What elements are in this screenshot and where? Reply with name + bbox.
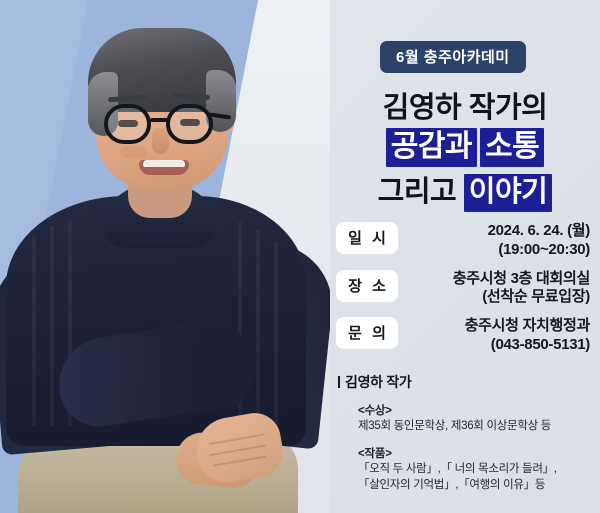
title-highlight-gonggam: 공감과 xyxy=(386,128,477,167)
bio-bar-icon xyxy=(338,376,340,388)
info-value-venue-line1: 충주시청 3층 대회의실 xyxy=(453,270,590,287)
bio-works-title: <작품> xyxy=(358,445,600,461)
author-bio: 김영하 작가 <수상> 제35회 동인문학상, 제36회 이상문학상 등 <작품… xyxy=(330,372,600,494)
title-line-2: 공감과소통 xyxy=(330,121,600,165)
info-value-venue: 충주시청 3층 대회의실 (선착순 무료입장) xyxy=(398,270,600,308)
title-highlight-sotong: 소통 xyxy=(480,128,544,167)
bio-heading: 김영하 작가 xyxy=(338,372,600,392)
glasses-bridge xyxy=(150,118,168,122)
bio-works-line1: 「오직 두 사람」,「 너의 목소리가 들려」, xyxy=(358,461,600,478)
title-line-1-text: 김영하 작가의 xyxy=(383,92,548,124)
bio-awards-text: 제35회 동인문학상, 제36회 이상문학상 등 xyxy=(358,418,600,435)
author-photo xyxy=(0,0,330,513)
program-badge: 6월 충주아카데미 xyxy=(380,41,526,73)
bio-works: <작품> 「오직 두 사람」,「 너의 목소리가 들려」, 「살인자의 기억법」… xyxy=(358,445,600,494)
bio-works-line2: 「살인자의 기억법」,「여행의 이유」등 xyxy=(358,477,600,494)
info-value-contact: 충주시청 자치행정과 (043-850-5131) xyxy=(398,317,600,355)
info-value-venue-line2: (선착순 무료입장) xyxy=(398,288,590,307)
info-row-contact: 문 의 충주시청 자치행정과 (043-850-5131) xyxy=(330,317,600,355)
info-value-contact-line1: 충주시청 자치행정과 xyxy=(465,317,590,334)
bio-awards-title: <수상> xyxy=(358,402,600,418)
event-info-table: 일 시 2024. 6. 24. (월) (19:00~20:30) 장 소 충… xyxy=(330,222,600,365)
title-highlight-iyagi: 이야기 xyxy=(464,174,553,212)
info-row-venue: 장 소 충주시청 3층 대회의실 (선착순 무료입장) xyxy=(330,270,600,308)
author-portrait xyxy=(0,0,330,513)
title-line-3: 그리고 이야기 xyxy=(330,168,600,210)
cheek xyxy=(120,146,146,158)
info-value-date: 2024. 6. 24. (월) (19:00~20:30) xyxy=(398,222,600,260)
event-poster: 6월 충주아카데미 김영하 작가의 공감과소통 그리고 이야기 일 시 2024… xyxy=(0,0,600,513)
info-row-date: 일 시 2024. 6. 24. (월) (19:00~20:30) xyxy=(330,222,600,260)
info-value-date-line1: 2024. 6. 24. (월) xyxy=(488,222,590,239)
bio-heading-text: 김영하 작가 xyxy=(345,374,412,390)
info-label-contact: 문 의 xyxy=(336,317,398,349)
nose xyxy=(152,128,169,154)
info-label-venue: 장 소 xyxy=(336,270,398,302)
info-value-contact-line2: (043-850-5131) xyxy=(398,336,590,355)
info-label-date: 일 시 xyxy=(336,222,398,254)
teeth xyxy=(143,160,185,167)
info-value-date-line2: (19:00~20:30) xyxy=(398,241,590,260)
title-line-1: 김영하 작가의 xyxy=(330,84,600,126)
poster-content: 6월 충주아카데미 김영하 작가의 공감과소통 그리고 이야기 일 시 2024… xyxy=(330,0,600,513)
glasses-lens-left xyxy=(104,104,151,144)
bio-awards: <수상> 제35회 동인문학상, 제36회 이상문학상 등 xyxy=(358,402,600,435)
title-line-3-plain: 그리고 xyxy=(378,176,457,208)
glasses-lens-right xyxy=(166,104,213,144)
